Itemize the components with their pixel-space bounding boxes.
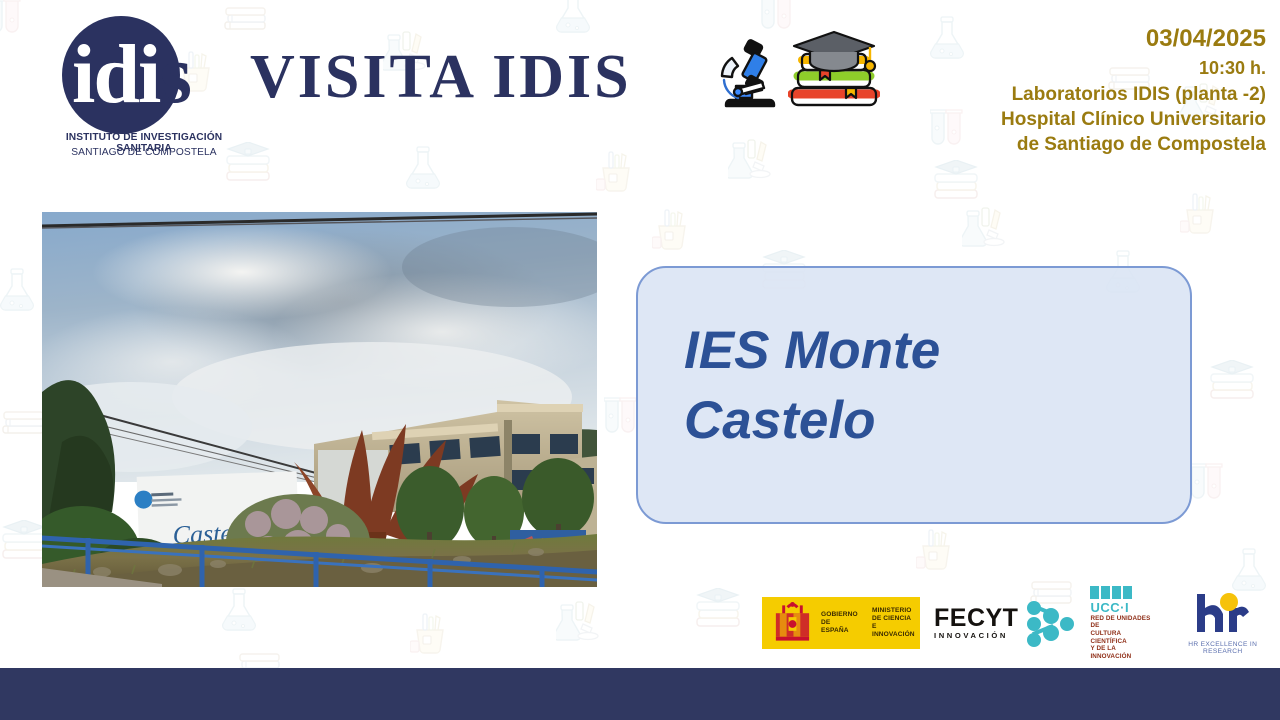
event-info: 03/04/2025 10:30 h. Laboratorios IDIS (p… <box>866 24 1266 157</box>
graduation-books-icon <box>788 30 880 108</box>
idis-subtitle-line2: SANTIAGO DE COMPOSTELA <box>44 147 244 158</box>
fecyt-wordmark: FECYT <box>934 606 1018 630</box>
gobierno-line1: GOBIERNO <box>821 611 859 619</box>
ministerio-line1: MINISTERIO <box>872 607 920 615</box>
ucci-subtitle-line1: RED DE UNIDADES DE <box>1090 615 1153 630</box>
watermark-flask-microscope-icon <box>962 206 1006 248</box>
school-name-text: IES Monte Castelo <box>684 316 1064 456</box>
school-name-line-1: IES Monte <box>684 316 1064 386</box>
gobierno-line2: DE ESPAÑA <box>821 619 859 635</box>
watermark-flask-icon <box>0 268 36 312</box>
school-name-line-2: Castelo <box>684 386 1064 456</box>
ucci-bars-icon <box>1090 586 1153 599</box>
fecyt-logo: FECYT INNOVACIÓN <box>934 598 1074 648</box>
hr-excellence-subtitle: HR EXCELLENCE IN RESEARCH <box>1173 641 1272 655</box>
ucci-subtitle-line3: Y DE LA INNOVACIÓN <box>1090 645 1153 660</box>
page-title: VISITA IDIS <box>250 42 632 113</box>
microscope-icon <box>716 36 780 108</box>
idis-wordmark-inner: idi <box>72 28 159 121</box>
gobierno-text: GOBIERNO DE ESPAÑA <box>821 611 859 634</box>
watermark-test-tubes-icon <box>604 396 638 436</box>
fecyt-subtitle: INNOVACIÓN <box>934 630 1018 641</box>
watermark-graduation-books-icon <box>694 588 744 628</box>
watermark-pencil-cup-icon <box>410 612 446 656</box>
title-decoration-icons <box>716 30 880 108</box>
watermark-graduation-books-icon <box>932 160 982 200</box>
watermark-flask-microscope-icon <box>556 600 600 642</box>
fecyt-molecule-icon <box>1024 598 1074 648</box>
event-time: 10:30 h. <box>866 54 1266 82</box>
idis-wordmark-outer: s <box>159 28 190 121</box>
watermark-test-tubes-icon <box>1190 462 1224 502</box>
watermark-flask-icon <box>406 146 442 190</box>
ucci-wordmark: UCC·I <box>1090 600 1153 615</box>
watermark-flask-icon <box>222 588 258 632</box>
hr-excellence-logo: HR EXCELLENCE IN RESEARCH <box>1173 592 1272 655</box>
watermark-test-tubes-icon <box>760 0 794 32</box>
gobierno-de-espana-logo: GOBIERNO DE ESPAÑA MINISTERIO DE CIENCIA… <box>762 597 920 649</box>
school-photo: Castelo <box>42 212 597 587</box>
event-location-line-3: de Santiago de Compostela <box>866 132 1266 157</box>
idis-wordmark: idis <box>62 16 242 134</box>
watermark-pencil-cup-icon <box>652 208 688 252</box>
hr-mark-icon <box>1195 592 1251 634</box>
event-location-line-1: Laboratorios IDIS (planta -2) <box>866 82 1266 107</box>
watermark-pencil-cup-icon <box>596 150 632 194</box>
event-date: 03/04/2025 <box>866 24 1266 54</box>
watermark-flask-icon <box>556 0 592 34</box>
watermark-pencil-cup-icon <box>916 528 952 572</box>
watermark-test-tubes-icon <box>0 0 22 36</box>
ucci-subtitle-line2: CULTURA CIENTÍFICA <box>1090 630 1153 645</box>
idis-logo: idis INSTITUTO DE INVESTIGACIÓN SANITARI… <box>44 16 244 156</box>
ministerio-text: MINISTERIO DE CIENCIA E INNOVACIÓN <box>872 607 920 638</box>
school-name-box: IES Monte Castelo <box>636 266 1192 524</box>
poster-canvas: idis INSTITUTO DE INVESTIGACIÓN SANITARI… <box>0 0 1280 720</box>
watermark-flask-icon <box>1232 548 1268 592</box>
footer-logo-strip: GOBIERNO DE ESPAÑA MINISTERIO DE CIENCIA… <box>762 592 1272 654</box>
ucci-logo: UCC·I RED DE UNIDADES DE CULTURA CIENTÍF… <box>1090 586 1153 661</box>
bottom-bar <box>0 668 1280 720</box>
watermark-graduation-books-icon <box>1208 360 1258 400</box>
watermark-flask-microscope-icon <box>728 138 772 180</box>
ministerio-line3: E INNOVACIÓN <box>872 623 920 639</box>
watermark-pencil-cup-icon <box>1180 192 1216 236</box>
spain-coat-of-arms-icon <box>770 601 815 645</box>
ministerio-line2: DE CIENCIA <box>872 615 920 623</box>
school-photo-image: Castelo <box>42 212 597 587</box>
watermark-books-icon <box>0 406 48 436</box>
event-location-line-2: Hospital Clínico Universitario <box>866 107 1266 132</box>
